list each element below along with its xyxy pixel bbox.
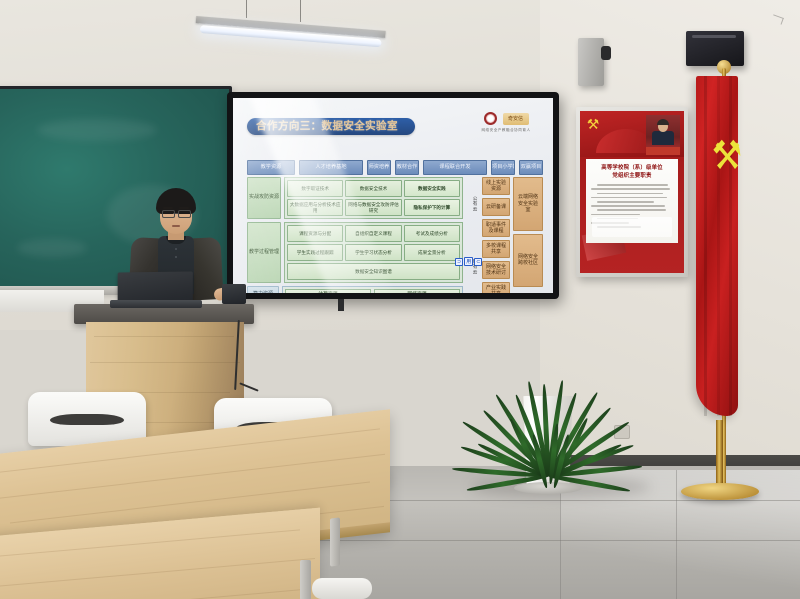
hammer-sickle-icon: ⚒ [712,130,731,182]
band-1-label: 教学过程管理 [247,222,281,283]
nav-tab-2[interactable]: 师资培养 [367,160,391,175]
classroom-photo: ⚒ 高等学校院（系）级单位 党组织主要职责 [0,0,800,599]
laptop-keyboard-base[interactable] [110,300,202,308]
leader-portrait-photo [646,115,680,155]
right-cell-0-2[interactable]: 职适事件及课程 [482,219,510,237]
display-mount [338,299,344,311]
band-1-cell-0-0[interactable]: 课程资源与分配 [287,225,343,242]
speaker-grille [692,35,736,38]
right-cell-0-1[interactable]: 云研备课 [482,198,510,216]
cursor-badge-right: ⊂ [474,258,482,266]
white-chair-front-seat[interactable] [312,578,372,599]
right-cell-1-2[interactable]: 产业实践共享 [482,282,510,293]
floor-tile-line [676,470,677,599]
floor-tile-line [380,500,800,501]
nav-tab-0[interactable]: 教学资源 [247,160,295,175]
right-cell-0-0[interactable]: 线上实验资源 [482,177,510,195]
wall-camera-speaker-gray [578,38,604,86]
cursor-badge-middle: 用 [464,257,473,266]
gold-badge-logo: 奇安信 [503,113,529,125]
slide-matrix: 实战攻防资源 数字取证技术 数据安全技术 数据安全实践 大数据应用与分析技术应用… [247,177,543,287]
band-1: 教学过程管理 课程资源与分配 自组织自定义课程 考试及成绩分析 学生实践过程跟踪… [247,222,463,283]
plant-saucer [514,482,582,494]
right-tall-0[interactable]: 云端网络安全实验室 [513,177,543,231]
table-leg [330,517,340,566]
band-0: 实战攻防资源 数字取证技术 数据安全技术 数据安全实践 大数据应用与分析技术应用… [247,177,463,219]
band-0-cell-1-2[interactable]: 隐私保护下的计算 [404,199,460,216]
right-cell-1-0[interactable]: 多校课程共享 [482,240,510,258]
nav-tab-6[interactable]: 双赢项目 [519,160,543,175]
party-hammer-sickle-icon: ⚒ [585,116,601,132]
slide-logo-caption: 网络安全产教融合协同育人 [469,128,543,133]
vertical-label-1: 私有云 [467,246,478,287]
flagpole-base [681,483,759,500]
poster-title-line-2: 党组织主要职责 [591,172,673,180]
band-0-cell-1-1[interactable]: 网络与数据安全攻防评估研究 [345,199,401,216]
camera-lens-icon [601,46,611,60]
light-suspension-wire [300,0,301,22]
light-suspension-wire [246,0,247,18]
band-1-cell-1-1[interactable]: 学生学习状态分析 [345,244,401,261]
bottom-band: 算力资源 计算资源 网络资源 [247,286,463,293]
band-1-cell-1-2[interactable]: 成果全景分析 [404,244,460,261]
bottom-band-cell-0[interactable]: 计算资源 [285,289,371,293]
wall-poster: ⚒ 高等学校院（系）级单位 党组织主要职责 [576,107,688,277]
slide-cursor-badge: ⊃ 用 ⊂ [455,257,482,266]
right-tall-1[interactable]: 网络安全跨校社区 [513,234,543,288]
band-0-cell-0-2[interactable]: 数据安全实践 [404,180,460,197]
presentation-slide: 合作方向三：数据安全实验室 奇安信 网络安全产教融合协同育人 教学资源 人才培养… [233,98,553,293]
nav-tab-1[interactable]: 人才培养基地 [299,160,363,175]
slide-vertical-labels: 公有云 私有云 [467,177,478,287]
bottom-band-label: 算力资源 [247,286,279,293]
table-leg [300,560,311,599]
band-1-cell-0-1[interactable]: 自组织自定义课程 [345,225,401,242]
slide-nav-row: 教学资源 人才培养基地 师资培养 教材合作 课程联合开发 项目小学期 双赢项目 [247,160,543,175]
nav-tab-3[interactable]: 教材合作 [395,160,419,175]
slide-logos: 奇安信 网络安全产教融合协同育人 [469,112,543,133]
eyeglasses-icon [162,210,175,218]
nav-tab-5[interactable]: 项目小学期 [491,160,515,175]
band-1-cell-0-2[interactable]: 考试及成绩分析 [404,225,460,242]
slide-right-column: 线上实验资源 云研备课 职适事件及课程 多校课程共享 网络安全技术研讨 产业实践… [482,177,543,287]
flagpole-stem [716,420,723,488]
band-0-cell-1-0[interactable]: 大数据应用与分析技术应用 [287,199,343,216]
vertical-label-0: 公有云 [467,183,478,224]
right-cell-1-1[interactable]: 网络安全技术研讨 [482,261,510,279]
band-1-cell-1-0[interactable]: 学生实践过程跟踪 [287,244,343,261]
wall-mounted-display[interactable]: 合作方向三：数据安全实验室 奇安信 网络安全产教融合协同育人 教学资源 人才培养… [227,92,559,299]
band-0-cell-0-0[interactable]: 数字取证技术 [287,180,343,197]
poster-title-line-1: 高等学校院（系）级单位 [591,164,673,172]
second-laptop-on-podium[interactable] [222,284,246,304]
bottom-band-cell-1[interactable]: 网络资源 [374,289,460,293]
potted-dracaena [468,288,658,493]
floor-tile-line [300,540,800,541]
band-0-label: 实战攻防资源 [247,177,281,219]
nav-tab-4[interactable]: 课程联合开发 [423,160,487,175]
circular-seal-logo [484,112,497,125]
communist-party-flag [696,76,738,416]
display-screen: 合作方向三：数据安全实验室 奇安信 网络安全产教融合协同育人 教学资源 人才培养… [233,98,553,293]
band-1-cell-2-0[interactable]: 数据安全知识图谱 [287,263,460,280]
slide-title: 合作方向三：数据安全实验室 [251,119,403,134]
cursor-badge-left: ⊃ [455,258,463,266]
band-0-cell-0-1[interactable]: 数据安全技术 [345,180,401,197]
slide-left-column: 实战攻防资源 数字取证技术 数据安全技术 数据安全实践 大数据应用与分析技术应用… [247,177,463,287]
